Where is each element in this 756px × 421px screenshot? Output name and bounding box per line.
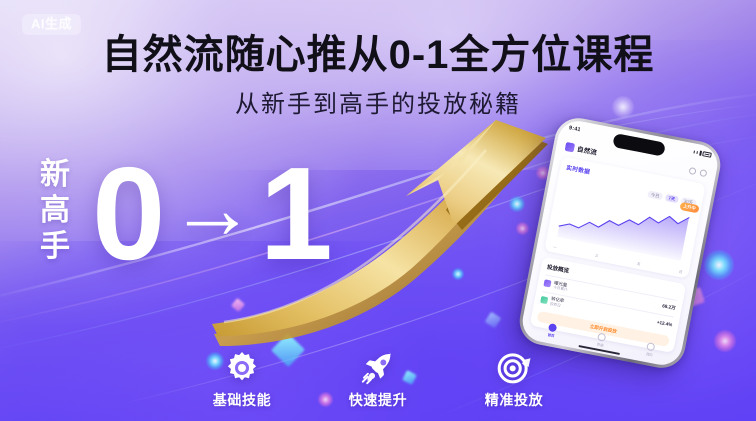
promo-banner: AI生成 自然流随心推从0-1全方位课程 从新手到高手的投放秘籍 新 高 手 — [0, 0, 756, 421]
app-name: 自然流 — [576, 143, 598, 157]
phone-screen: 9:41 自然流 实时数据 — [519, 118, 721, 369]
feature-label: 快速提升 — [349, 393, 407, 407]
phone-mockup: 9:41 自然流 实时数据 — [516, 114, 725, 372]
phone-frame: 9:41 自然流 实时数据 — [516, 114, 725, 372]
hero-to-number: 1 — [259, 148, 330, 280]
status-bar-indicators — [693, 149, 712, 157]
shard-shape — [485, 312, 502, 329]
gear-icon — [223, 349, 261, 387]
stat-value: +12.4% — [656, 319, 672, 327]
chart-x-label: 日 — [678, 270, 682, 276]
nav-label: 数据 — [596, 341, 604, 347]
target-icon — [495, 349, 533, 387]
chart-x-label: 五 — [636, 262, 640, 268]
status-bar-time: 9:41 — [568, 125, 581, 133]
vertical-tag-char: 新 — [40, 160, 70, 190]
bokeh-particle — [452, 268, 464, 280]
hero-from-number: 0 — [92, 148, 163, 280]
bokeh-particle — [509, 196, 525, 212]
vertical-tag-char: 手 — [40, 232, 70, 262]
feature-precise-targeting[interactable]: 精准投放 — [468, 349, 560, 407]
chart-x-label: 一 — [552, 245, 556, 251]
growth-icon — [540, 296, 548, 304]
bokeh-particle — [704, 250, 734, 280]
feature-label: 精准投放 — [485, 393, 543, 407]
feature-fast-growth[interactable]: 快速提升 — [332, 349, 424, 407]
arrow-right-icon: → — [169, 166, 255, 252]
page-subtitle: 从新手到高手的投放秘籍 — [0, 92, 756, 118]
chart-icon — [597, 332, 606, 341]
wallet-icon — [543, 280, 551, 288]
chart-card: 实时数据 今日 7天 30天 上升中 — [544, 156, 706, 278]
shard-shape — [231, 298, 245, 312]
vertical-tag: 新 高 手 — [40, 160, 70, 262]
signal-icon — [699, 151, 701, 156]
vertical-tag-char: 高 — [40, 196, 70, 226]
home-icon — [548, 323, 557, 332]
app-header-actions — [689, 166, 708, 176]
search-icon[interactable] — [689, 166, 697, 174]
ai-generated-watermark: AI生成 — [22, 14, 81, 35]
feature-row: 基础技能 快速提升 — [0, 349, 756, 407]
nav-label: 首页 — [547, 332, 555, 338]
app-logo-icon — [565, 141, 576, 152]
bokeh-particle — [516, 222, 529, 235]
bell-icon[interactable] — [699, 169, 707, 177]
nav-item-home[interactable]: 首页 — [547, 323, 558, 339]
zero-to-one-hero: 0 → 1 — [92, 148, 331, 280]
stat-value: 68.2万 — [662, 303, 676, 311]
nav-item-data[interactable]: 数据 — [596, 332, 607, 348]
feature-label: 基础技能 — [213, 393, 271, 407]
battery-icon — [702, 151, 712, 157]
page-title: 自然流随心推从0-1全方位课程 — [0, 34, 756, 77]
chart-tab[interactable]: 7天 — [665, 194, 679, 204]
feature-basic-skills[interactable]: 基础技能 — [196, 349, 288, 407]
chart-x-label: 三 — [594, 253, 598, 259]
rocket-icon — [359, 349, 397, 387]
signal-icon — [696, 150, 698, 154]
signal-icon — [693, 150, 695, 153]
